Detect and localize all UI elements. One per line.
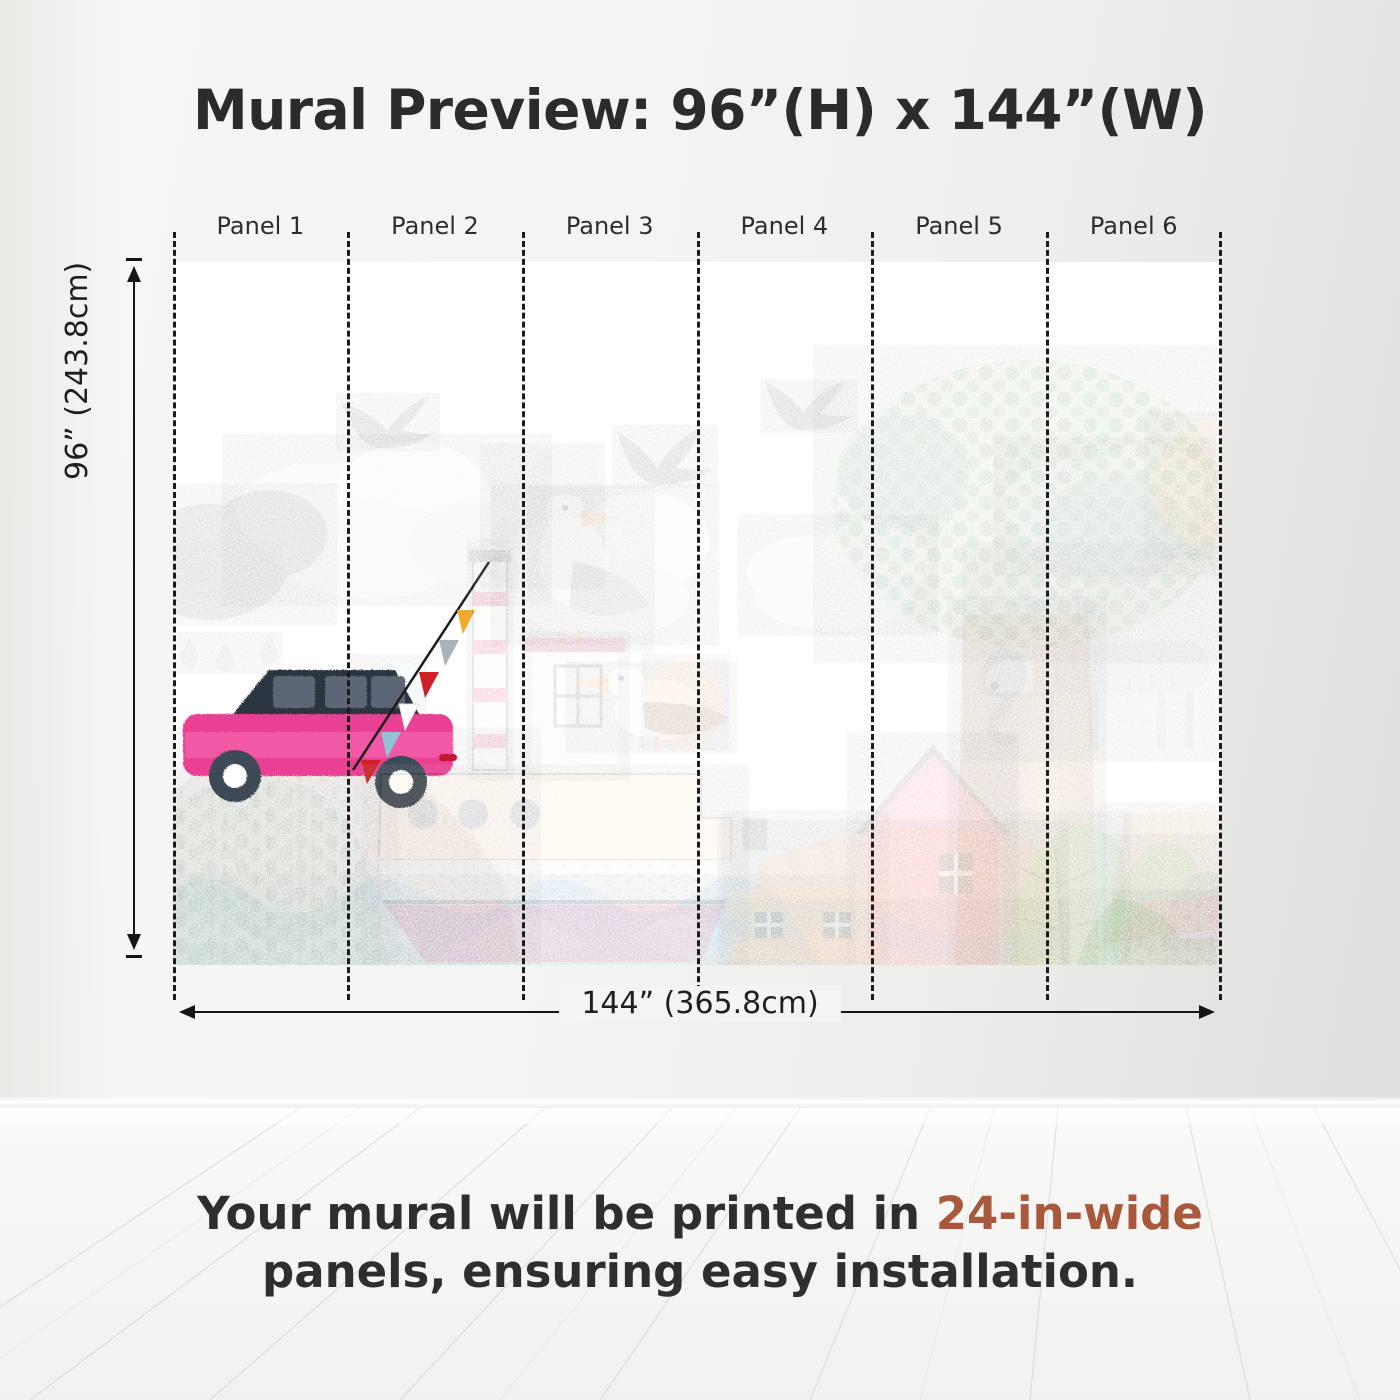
height-cap-top — [126, 258, 142, 261]
panel-label-1: Panel 1 — [173, 212, 348, 252]
caption-line-1: Your mural will be printed in 24-in-wide — [0, 1185, 1400, 1243]
mural-preview-stage: Mural Preview: 96”(H) x 144”(W) Panel 1 … — [0, 0, 1400, 1400]
wall-shadow — [0, 0, 120, 1108]
width-dimension-text: 144” (365.8cm) — [559, 986, 840, 1021]
panel-label-2: Panel 2 — [348, 212, 523, 252]
panel-label-4: Panel 4 — [697, 212, 872, 252]
height-cap-bottom — [126, 955, 142, 958]
height-dimension-label: 96” (243.8cm) — [60, 262, 95, 480]
mural-artwork — [173, 262, 1221, 965]
panel-label-row: Panel 1 Panel 2 Panel 3 Panel 4 Panel 5 … — [173, 212, 1221, 252]
width-dimension-label: 144” (365.8cm) — [0, 986, 1400, 1021]
panel-label-6: Panel 6 — [1046, 212, 1221, 252]
footer-caption: Your mural will be printed in 24-in-wide… — [0, 1185, 1400, 1300]
height-arrowhead-top — [127, 266, 141, 282]
height-arrowhead-bottom — [127, 934, 141, 950]
caption-line-1-prefix: Your mural will be printed in — [197, 1187, 936, 1240]
page-title: Mural Preview: 96”(H) x 144”(W) — [0, 78, 1400, 142]
panel-label-3: Panel 3 — [522, 212, 697, 252]
mural-illustration — [173, 262, 1221, 965]
height-shaft — [133, 272, 135, 944]
caption-highlight: 24-in-wide — [936, 1187, 1203, 1240]
panel-label-5: Panel 5 — [872, 212, 1047, 252]
boat-funnel — [469, 550, 511, 770]
height-dimension-arrow — [126, 258, 142, 958]
caption-line-2: panels, ensuring easy installation. — [0, 1243, 1400, 1301]
boat-cabin — [525, 638, 625, 774]
